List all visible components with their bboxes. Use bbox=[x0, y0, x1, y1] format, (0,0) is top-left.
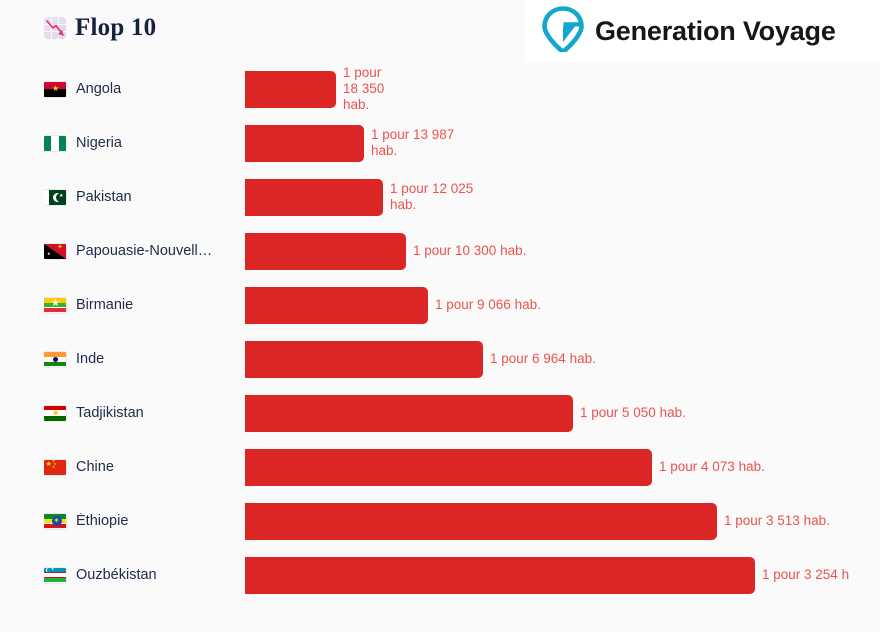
country-label-group: Nigeria bbox=[44, 116, 240, 170]
chart-decreasing-icon bbox=[44, 17, 66, 39]
country-name: Tadjikistan bbox=[76, 405, 144, 421]
flag-china-icon: ★ ★ ★ ★ bbox=[44, 460, 66, 475]
header: Flop 10 Generation Voyage bbox=[0, 0, 880, 62]
bar[interactable] bbox=[245, 341, 483, 378]
country-label-group: ★Birmanie bbox=[44, 278, 240, 332]
title-block: Flop 10 bbox=[44, 14, 156, 42]
chart-row: ★Angola1 pour 18 350 hab. bbox=[0, 62, 880, 116]
horizontal-bar-chart: ★Angola1 pour 18 350 hab. Nigeria1 pour … bbox=[0, 62, 880, 632]
country-name: Ouzbékistan bbox=[76, 567, 157, 583]
country-name: Nigeria bbox=[76, 135, 122, 151]
chart-row: Nigeria1 pour 13 987 hab. bbox=[0, 116, 880, 170]
bar[interactable] bbox=[245, 557, 755, 594]
chart-row: ★Pakistan1 pour 12 025 hab. bbox=[0, 170, 880, 224]
bar-group: 1 pour 3 254 h bbox=[245, 548, 849, 602]
country-label-group: ✦ ★Papouasie-Nouvell… bbox=[44, 224, 240, 278]
bar-value-label: 1 pour 3 513 hab. bbox=[724, 513, 830, 529]
country-name: Pakistan bbox=[76, 189, 132, 205]
country-name: Inde bbox=[76, 351, 104, 367]
flag-nigeria-icon bbox=[44, 136, 66, 151]
bar-value-label: 1 pour 10 300 hab. bbox=[413, 243, 526, 259]
bar-value-label: 1 pour 6 964 hab. bbox=[490, 351, 596, 367]
country-name: Éthiopie bbox=[76, 513, 128, 529]
country-name: Chine bbox=[76, 459, 114, 475]
chart-row: ✶Éthiopie1 pour 3 513 hab. bbox=[0, 494, 880, 548]
flag-uzbekistan-icon: ★ bbox=[44, 568, 66, 583]
country-name: Birmanie bbox=[76, 297, 133, 313]
bar[interactable] bbox=[245, 179, 383, 216]
bar-value-label: 1 pour 4 073 hab. bbox=[659, 459, 765, 475]
bar-value-label: 1 pour 3 254 h bbox=[762, 567, 849, 583]
country-label-group: ★Angola bbox=[44, 62, 240, 116]
bar-value-label: 1 pour 18 350 hab. bbox=[343, 65, 384, 113]
flag-india-icon bbox=[44, 352, 66, 367]
country-label-group: ★ ★ ★ ★Chine bbox=[44, 440, 240, 494]
country-label-group: Inde bbox=[44, 332, 240, 386]
flag-ethiopia-icon: ✶ bbox=[44, 514, 66, 529]
country-label-group: ✶Éthiopie bbox=[44, 494, 240, 548]
bar[interactable] bbox=[245, 233, 406, 270]
chart-row: ✦ ★Papouasie-Nouvell…1 pour 10 300 hab. bbox=[0, 224, 880, 278]
bar[interactable] bbox=[245, 71, 336, 108]
flag-angola-icon: ★ bbox=[44, 82, 66, 97]
chart-row: Inde1 pour 6 964 hab. bbox=[0, 332, 880, 386]
bar-value-label: 1 pour 12 025 hab. bbox=[390, 181, 473, 213]
flag-png-icon: ✦ ★ bbox=[44, 244, 66, 259]
chart-row: ★Birmanie1 pour 9 066 hab. bbox=[0, 278, 880, 332]
flag-tajikistan-icon: ♚ bbox=[44, 406, 66, 421]
bar[interactable] bbox=[245, 287, 428, 324]
bar-group: 1 pour 12 025 hab. bbox=[245, 170, 473, 224]
bar[interactable] bbox=[245, 125, 364, 162]
bar-group: 1 pour 13 987 hab. bbox=[245, 116, 454, 170]
flag-pakistan-icon: ★ bbox=[44, 190, 66, 205]
bar[interactable] bbox=[245, 395, 573, 432]
page-title: Flop 10 bbox=[75, 14, 156, 42]
bar-group: 1 pour 5 050 hab. bbox=[245, 386, 686, 440]
bar-group: 1 pour 3 513 hab. bbox=[245, 494, 830, 548]
bar-value-label: 1 pour 5 050 hab. bbox=[580, 405, 686, 421]
bar-group: 1 pour 9 066 hab. bbox=[245, 278, 541, 332]
brand-logo[interactable]: Generation Voyage bbox=[525, 0, 880, 62]
country-label-group: ♚Tadjikistan bbox=[44, 386, 240, 440]
bar-group: 1 pour 10 300 hab. bbox=[245, 224, 526, 278]
bar-value-label: 1 pour 13 987 hab. bbox=[371, 127, 454, 159]
bar-group: 1 pour 18 350 hab. bbox=[245, 62, 384, 116]
chart-row: ★Ouzbékistan1 pour 3 254 h bbox=[0, 548, 880, 602]
chart-row: ★ ★ ★ ★Chine1 pour 4 073 hab. bbox=[0, 440, 880, 494]
map-pin-g-icon bbox=[542, 6, 584, 57]
country-label-group: ★Ouzbékistan bbox=[44, 548, 240, 602]
country-name: Papouasie-Nouvell… bbox=[76, 243, 212, 259]
chart-row: ♚Tadjikistan1 pour 5 050 hab. bbox=[0, 386, 880, 440]
bar-group: 1 pour 6 964 hab. bbox=[245, 332, 596, 386]
country-name: Angola bbox=[76, 81, 121, 97]
bar-group: 1 pour 4 073 hab. bbox=[245, 440, 765, 494]
bar[interactable] bbox=[245, 449, 652, 486]
country-label-group: ★Pakistan bbox=[44, 170, 240, 224]
bar[interactable] bbox=[245, 503, 717, 540]
brand-logo-text: Generation Voyage bbox=[595, 16, 836, 47]
flag-myanmar-icon: ★ bbox=[44, 298, 66, 313]
bar-value-label: 1 pour 9 066 hab. bbox=[435, 297, 541, 313]
